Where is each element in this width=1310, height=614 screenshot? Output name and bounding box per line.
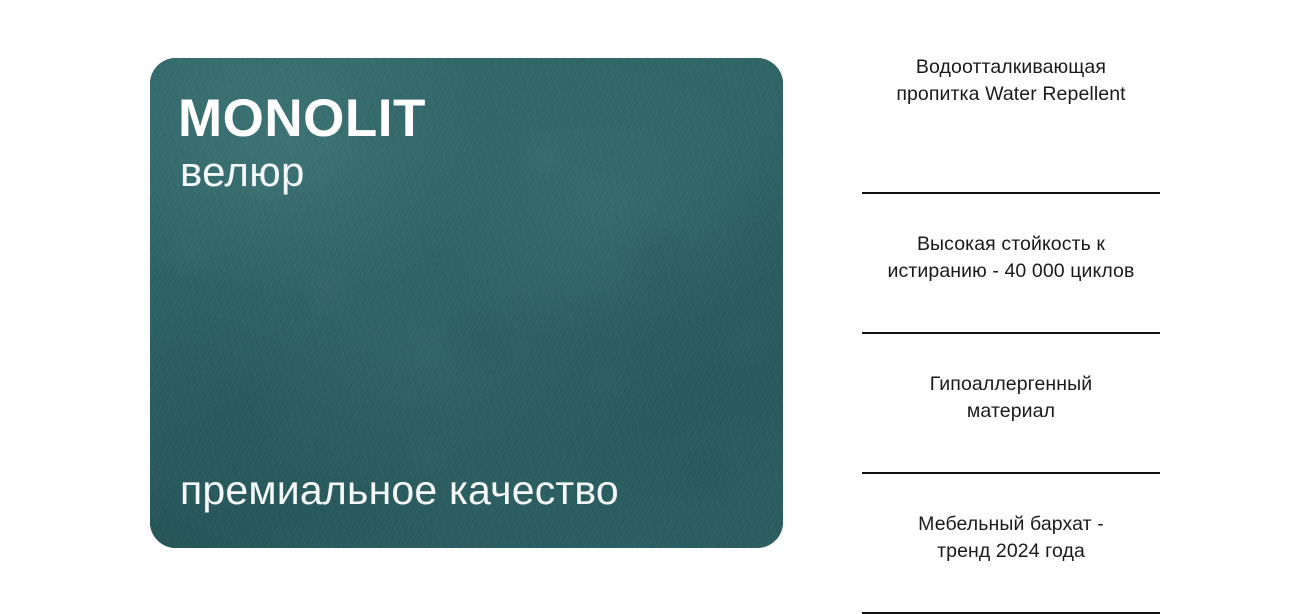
feature-line-1: Гипоаллергенный	[930, 373, 1093, 395]
feature-label: Мебельный бархат -тренд 2024 года	[862, 474, 1160, 612]
product-card: MONOLIT велюр премиальное качество Водоо…	[0, 0, 1310, 608]
tagline: премиальное качество	[180, 470, 619, 511]
feature-line-1: Водоотталкивающая	[916, 56, 1106, 78]
feature-item-water-repellent: Водоотталкивающаяпропитка Water Repellen…	[862, 54, 1160, 194]
feature-line-2: пропитка Water Repellent	[896, 83, 1125, 105]
feature-line-1: Высокая стойкость к	[917, 233, 1105, 255]
feature-item-hypoallergenic: Гипоаллергенныйматериал	[862, 334, 1160, 474]
brand-name: MONOLIT	[178, 92, 426, 145]
feature-list: Водоотталкивающаяпропитка Water Repellen…	[862, 54, 1160, 614]
feature-line-2: истиранию - 40 000 циклов	[888, 260, 1135, 282]
feature-item-trend-2024: Мебельный бархат -тренд 2024 года	[862, 474, 1160, 614]
feature-item-abrasion-resistance: Высокая стойкость кистиранию - 40 000 ци…	[862, 194, 1160, 334]
feature-line-1: Мебельный бархат -	[918, 513, 1104, 535]
feature-label: Высокая стойкость кистиранию - 40 000 ци…	[862, 194, 1160, 332]
feature-line-2: материал	[967, 400, 1055, 422]
brand-block: MONOLIT велюр	[178, 92, 426, 193]
feature-label: Гипоаллергенныйматериал	[862, 334, 1160, 472]
feature-line-2: тренд 2024 года	[937, 540, 1085, 562]
brand-subtitle: велюр	[180, 151, 426, 193]
feature-label: Водоотталкивающаяпропитка Water Repellen…	[862, 54, 1160, 192]
